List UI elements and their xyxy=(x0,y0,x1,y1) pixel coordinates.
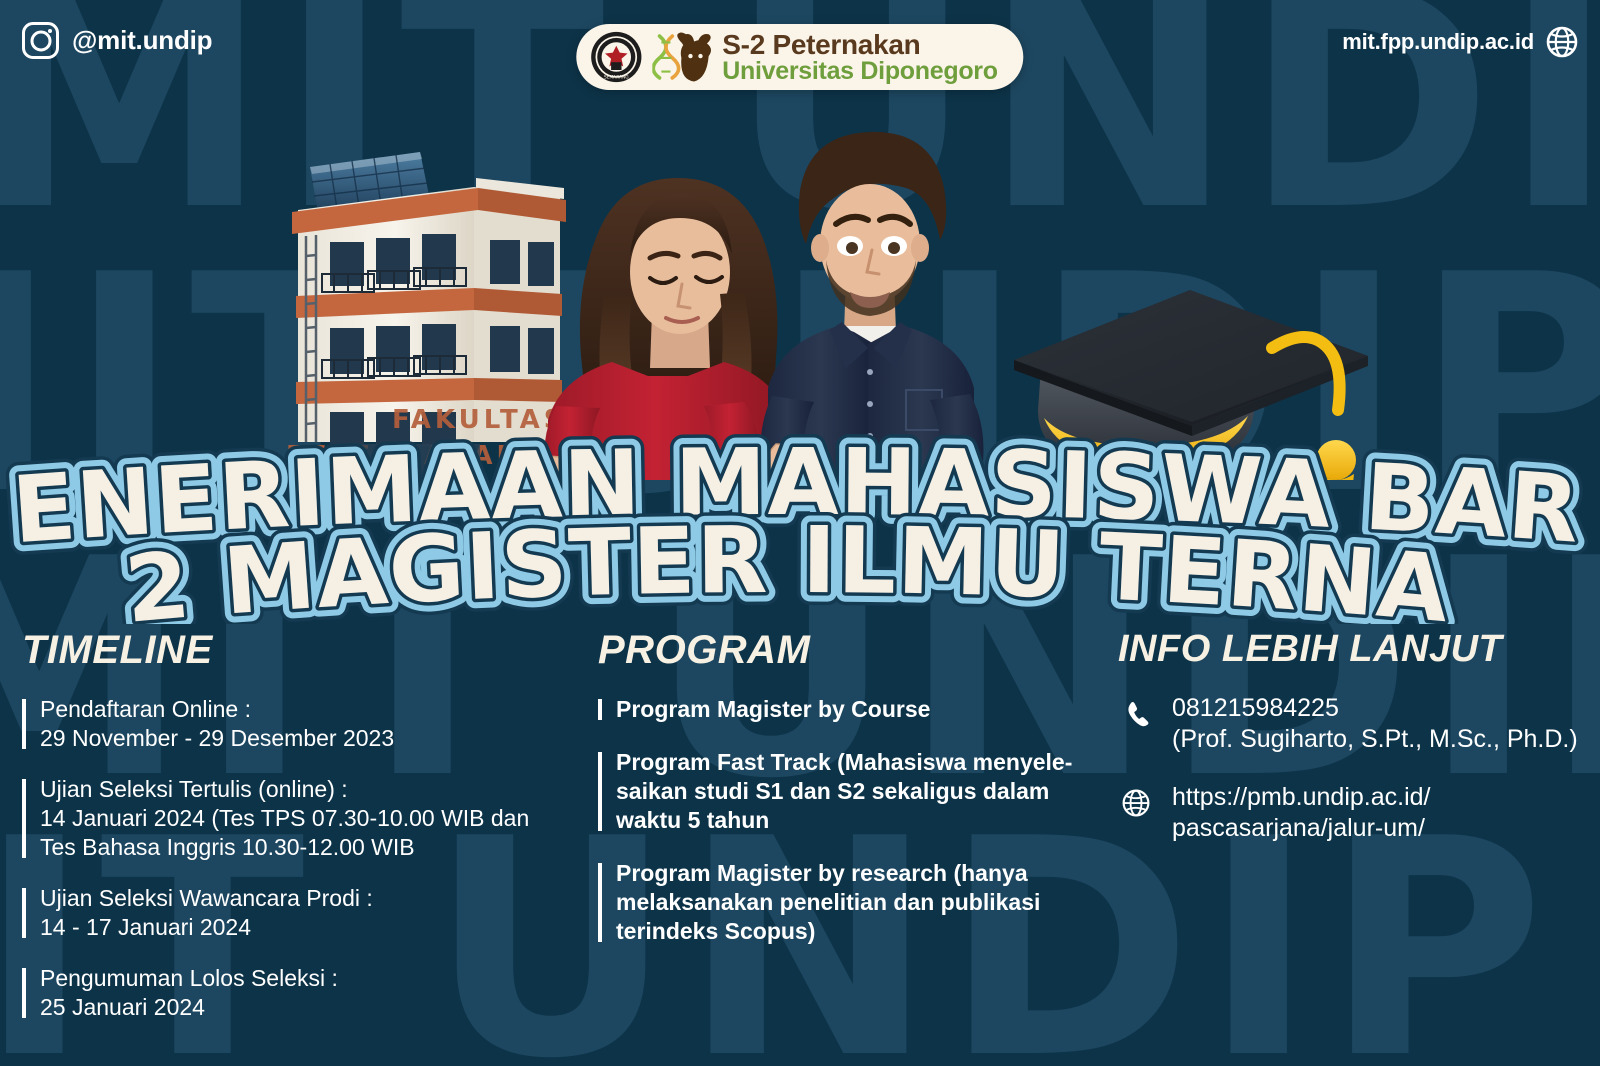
timeline-item: Ujian Seleksi Wawancara Prodi : 14 - 17 … xyxy=(22,884,580,942)
program-item: Program Magister by Course xyxy=(598,695,1100,724)
phone-text: 081215984225 (Prof. Sugiharto, S.Pt., M.… xyxy=(1172,693,1578,754)
program-item-line3: terindeks Scopus) xyxy=(616,917,1100,946)
program-logo-badge: SEMARANG S-2 Peternakan Universitas Dipo… xyxy=(576,24,1023,90)
timeline-item-label: Pendaftaran Online : xyxy=(40,695,580,724)
globe-icon xyxy=(1121,788,1151,818)
timeline-item: Pengumuman Lolos Seleksi : 25 Januari 20… xyxy=(22,964,580,1022)
info-column: INFO LEBIH LANJUT 081215984225 (Prof. Su… xyxy=(1100,628,1600,1066)
timeline-item-label: Ujian Seleksi Wawancara Prodi : xyxy=(40,884,580,913)
svg-text:SEMARANG: SEMARANG xyxy=(604,75,629,81)
instagram-icon xyxy=(22,22,59,59)
globe-icon xyxy=(1546,26,1578,58)
poster-root: MIT UNDIP MIT UNDIP MIT UNDIP MIT UNDIP xyxy=(0,0,1600,1066)
timeline-heading: TIMELINE xyxy=(22,628,580,673)
timeline-item-label: Pengumuman Lolos Seleksi : xyxy=(40,964,580,993)
timeline-item-label: Ujian Seleksi Tertulis (online) : xyxy=(40,775,580,804)
program-item-line3: waktu 5 tahun xyxy=(616,806,1100,835)
timeline-item-value: 29 November - 29 Desember 2023 xyxy=(40,724,580,753)
badge-text-block: S-2 Peternakan Universitas Diponegoro xyxy=(722,31,997,84)
phone-row[interactable]: 081215984225 (Prof. Sugiharto, S.Pt., M.… xyxy=(1118,693,1600,754)
badge-university-name: Universitas Diponegoro xyxy=(722,59,997,84)
phone-contact-name: (Prof. Sugiharto, S.Pt., M.Sc., Ph.D.) xyxy=(1172,724,1578,755)
program-item-line2: saikan studi S1 dan S2 sekaligus dalam xyxy=(616,777,1100,806)
main-title-artwork: PENERIMAAN MAHASISWA BARU PENERIMAAN MAH… xyxy=(0,424,1600,624)
content-columns: TIMELINE Pendaftaran Online : 29 Novembe… xyxy=(0,628,1600,1066)
globe-icon-wrap xyxy=(1118,782,1154,818)
timeline-item-value2: Tes Bahasa Inggris 10.30-12.00 WIB xyxy=(40,833,580,862)
timeline-column: TIMELINE Pendaftaran Online : 29 Novembe… xyxy=(0,628,580,1066)
badge-program-name: S-2 Peternakan xyxy=(722,31,997,59)
info-heading: INFO LEBIH LANJUT xyxy=(1118,628,1600,671)
bull-dna-icon xyxy=(652,30,712,84)
website-row[interactable]: https://pmb.undip.ac.id/ pascasarjana/ja… xyxy=(1118,782,1600,843)
phone-number: 081215984225 xyxy=(1172,693,1578,724)
program-column: PROGRAM Program Magister by Course Progr… xyxy=(580,628,1100,1066)
collage-artwork: FAKULTAS PETERNAKAN DA xyxy=(0,60,1600,480)
phone-icon-wrap xyxy=(1118,693,1154,729)
program-item: Program Fast Track (Mahasiswa menyele- s… xyxy=(598,748,1100,835)
timeline-item-value: 14 - 17 Januari 2024 xyxy=(40,913,580,942)
website-block[interactable]: mit.fpp.undip.ac.id xyxy=(1342,26,1578,58)
program-item-line1: Program Magister by research (hanya xyxy=(616,859,1100,888)
program-item-line2: melaksanakan penelitian dan publikasi xyxy=(616,888,1100,917)
website-url-line2: pascasarjana/jalur-um/ xyxy=(1172,813,1430,844)
instagram-block[interactable]: @mit.undip xyxy=(22,22,212,59)
program-heading: PROGRAM xyxy=(598,628,1100,673)
program-item-line1: Program Magister by Course xyxy=(616,695,1100,724)
program-item-line1: Program Fast Track (Mahasiswa menyele- xyxy=(616,748,1100,777)
hero-collage: FAKULTAS PETERNAKAN DA xyxy=(0,60,1600,480)
website-text: https://pmb.undip.ac.id/ pascasarjana/ja… xyxy=(1172,782,1430,843)
timeline-item-value: 25 Januari 2024 xyxy=(40,993,580,1022)
timeline-item: Ujian Seleksi Tertulis (online) : 14 Jan… xyxy=(22,775,580,862)
program-item: Program Magister by research (hanya mela… xyxy=(598,859,1100,946)
website-url: mit.fpp.undip.ac.id xyxy=(1342,29,1534,55)
timeline-item: Pendaftaran Online : 29 November - 29 De… xyxy=(22,695,580,753)
instagram-handle: @mit.undip xyxy=(72,25,212,56)
website-url-line1: https://pmb.undip.ac.id/ xyxy=(1172,782,1430,813)
timeline-item-value: 14 Januari 2024 (Tes TPS 07.30-10.00 WIB… xyxy=(40,804,580,833)
undip-seal-icon: SEMARANG xyxy=(590,31,642,83)
main-title: PENERIMAAN MAHASISWA BARU PENERIMAAN MAH… xyxy=(0,424,1600,624)
phone-icon xyxy=(1121,699,1151,729)
